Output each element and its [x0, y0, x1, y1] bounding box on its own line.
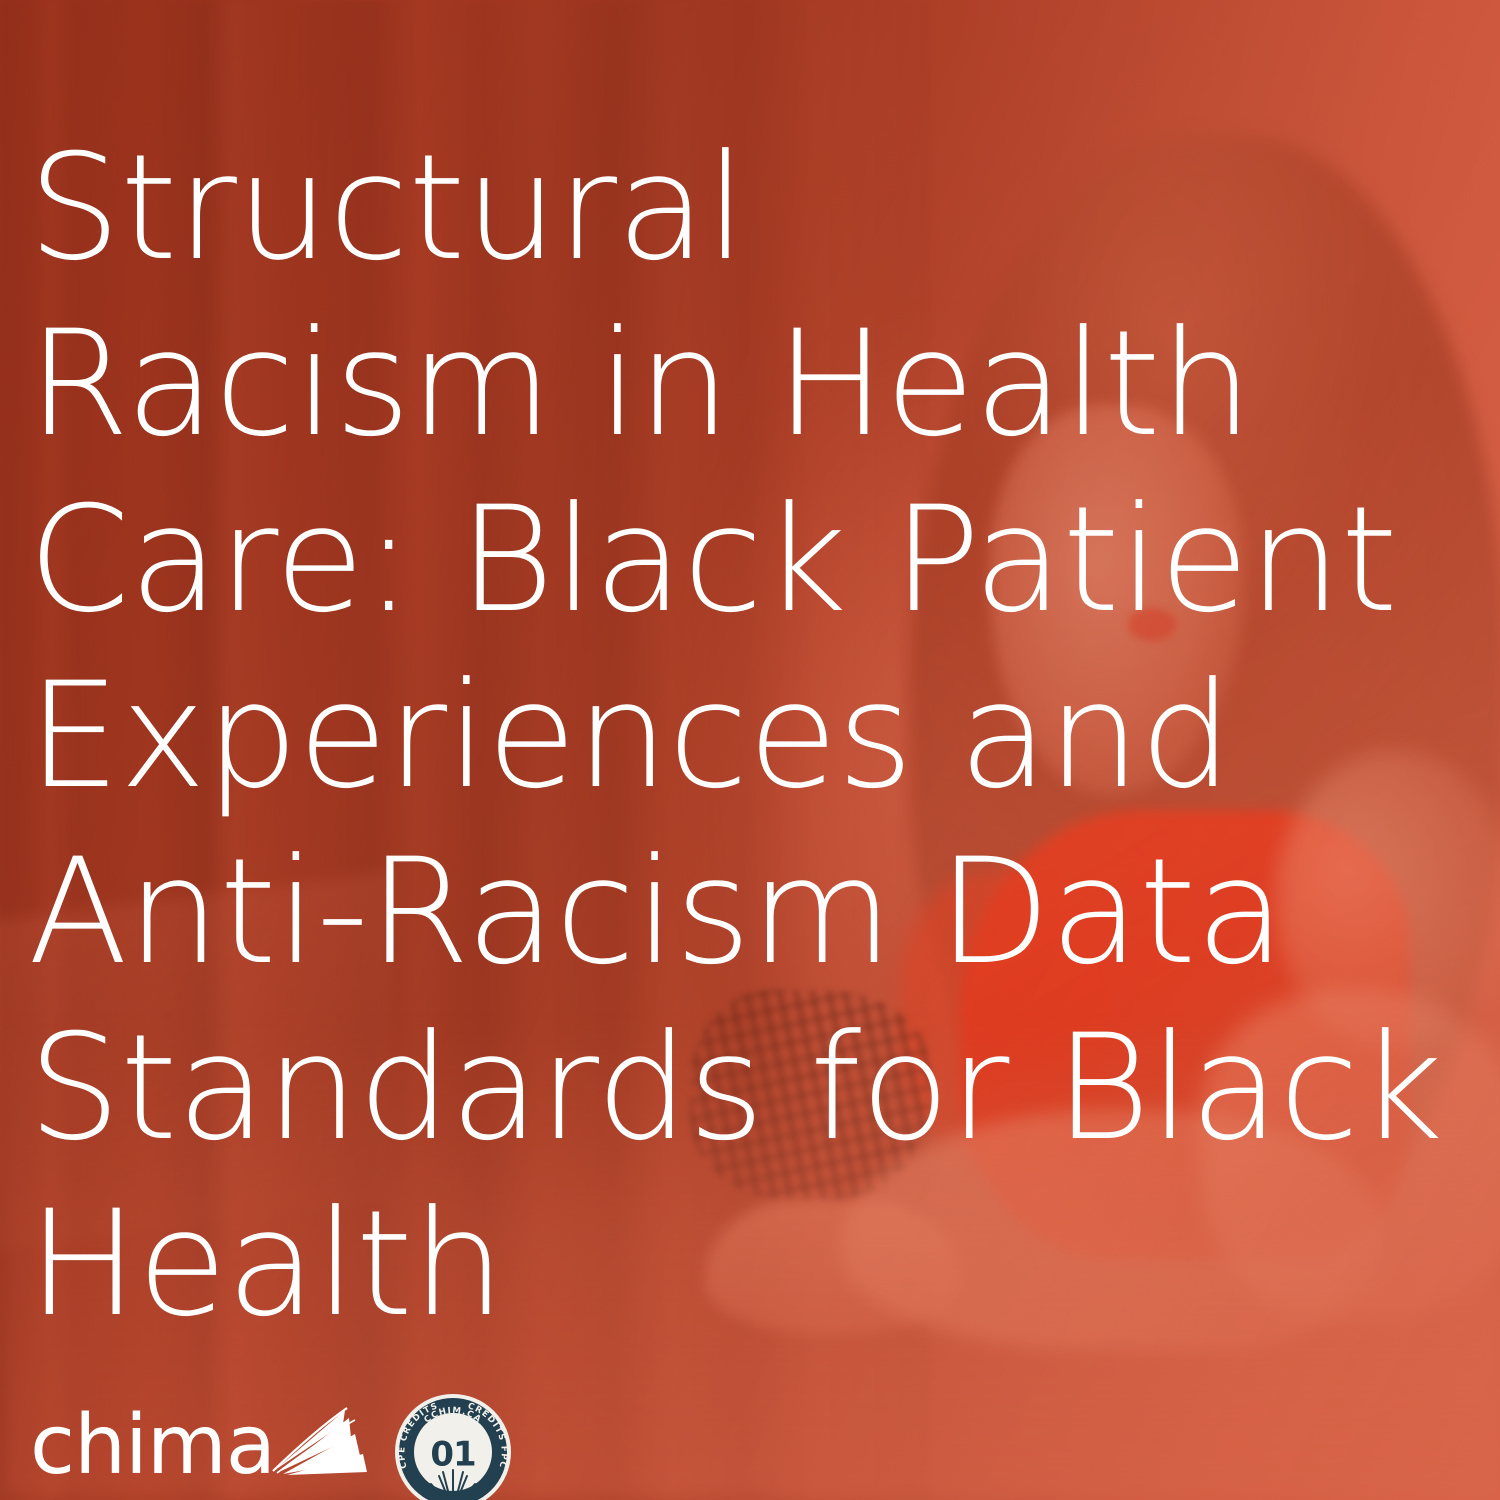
- cpe-credits-seal: CCHIM.CA CPE CREDITS CREDITS FPC 01: [393, 1392, 513, 1500]
- seal-dot-right: [475, 1427, 478, 1430]
- chima-logo[interactable]: chima: [30, 1398, 367, 1484]
- page-title: Structural Racism in Health Care: Black …: [28, 120, 1488, 1352]
- seal-dot-left: [427, 1427, 430, 1430]
- chima-wing-icon: [271, 1404, 367, 1478]
- chima-wordmark: chima: [30, 1408, 275, 1484]
- seal-credits-value: 01: [430, 1435, 475, 1475]
- footer-bar: chima: [30, 1382, 513, 1500]
- slide-canvas: Structural Racism in Health Care: Black …: [0, 0, 1500, 1500]
- slide-content: Structural Racism in Health Care: Black …: [0, 0, 1500, 1500]
